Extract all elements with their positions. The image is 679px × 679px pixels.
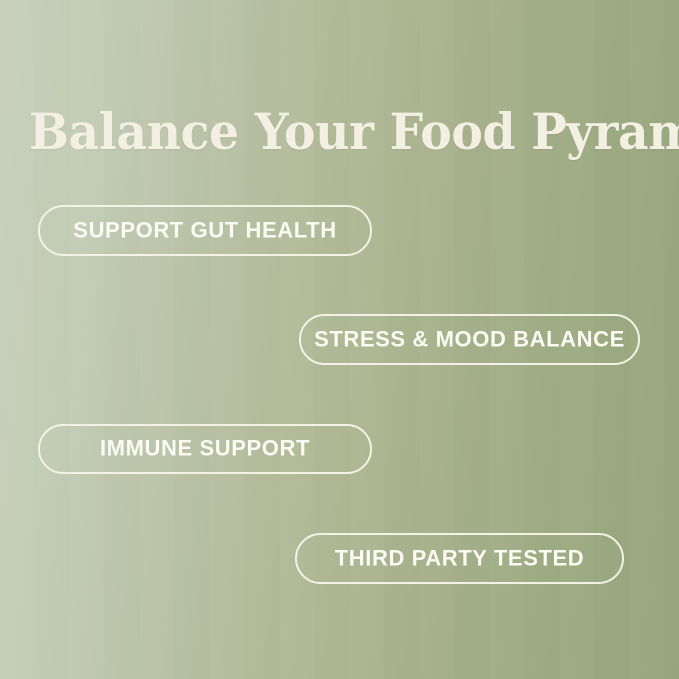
poster-canvas: Balance Your Food Pyramid SUPPORT GUT HE… <box>0 0 679 679</box>
badge-label: SUPPORT GUT HEALTH <box>73 219 336 241</box>
badge-label: THIRD PARTY TESTED <box>335 547 585 569</box>
page-title: Balance Your Food Pyramid <box>29 102 624 162</box>
badge-label: IMMUNE SUPPORT <box>100 438 310 460</box>
badge-support-gut-health[interactable]: SUPPORT GUT HEALTH <box>38 205 372 256</box>
badge-immune-support[interactable]: IMMUNE SUPPORT <box>38 424 372 474</box>
badge-stress-mood-balance[interactable]: STRESS & MOOD BALANCE <box>299 314 640 365</box>
badge-third-party-tested[interactable]: THIRD PARTY TESTED <box>295 533 624 584</box>
badge-label: STRESS & MOOD BALANCE <box>314 328 625 350</box>
